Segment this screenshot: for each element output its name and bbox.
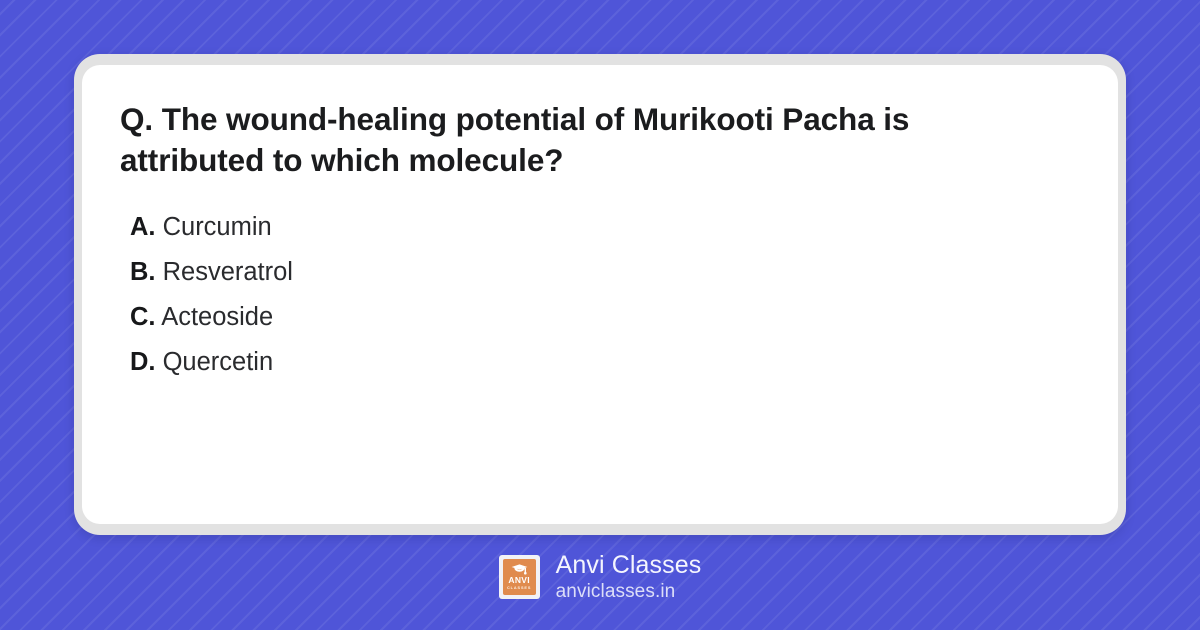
option-letter-d: D.	[130, 348, 156, 376]
brand-url[interactable]: anviclasses.in	[556, 580, 702, 603]
option-item-c[interactable]: C. Acteoside	[120, 295, 1078, 340]
brand-name: Anvi Classes	[556, 551, 702, 580]
option-item-b[interactable]: B. Resveratrol	[120, 250, 1078, 295]
brand-logo-subword: CLASSES	[507, 586, 531, 591]
option-label-d: Quercetin	[163, 348, 274, 376]
brand-logo-word: ANVI	[508, 576, 530, 585]
option-label-a: Curcumin	[163, 213, 272, 241]
option-label-b: Resveratrol	[163, 258, 293, 286]
option-letter-b: B.	[130, 258, 156, 286]
brand-text-block: Anvi Classes anviclasses.in	[556, 551, 702, 603]
question-card: Q. The wound-healing potential of Muriko…	[82, 65, 1118, 524]
options-list: A. Curcumin B. Resveratrol C. Acteoside …	[120, 205, 1078, 385]
option-letter-a: A.	[130, 213, 156, 241]
brand-footer: ANVI CLASSES Anvi Classes anviclasses.in	[0, 548, 1200, 606]
graduation-cap-icon	[511, 564, 528, 575]
option-label-c: Acteoside	[161, 303, 273, 331]
question-card-frame: Q. The wound-healing potential of Muriko…	[74, 54, 1126, 535]
brand-logo-tile: ANVI CLASSES	[503, 559, 536, 595]
brand-logo: ANVI CLASSES	[499, 555, 540, 599]
option-item-a[interactable]: A. Curcumin	[120, 205, 1078, 250]
option-letter-c: C.	[130, 303, 156, 331]
question-text: Q. The wound-healing potential of Muriko…	[120, 99, 1050, 182]
option-item-d[interactable]: D. Quercetin	[120, 340, 1078, 385]
